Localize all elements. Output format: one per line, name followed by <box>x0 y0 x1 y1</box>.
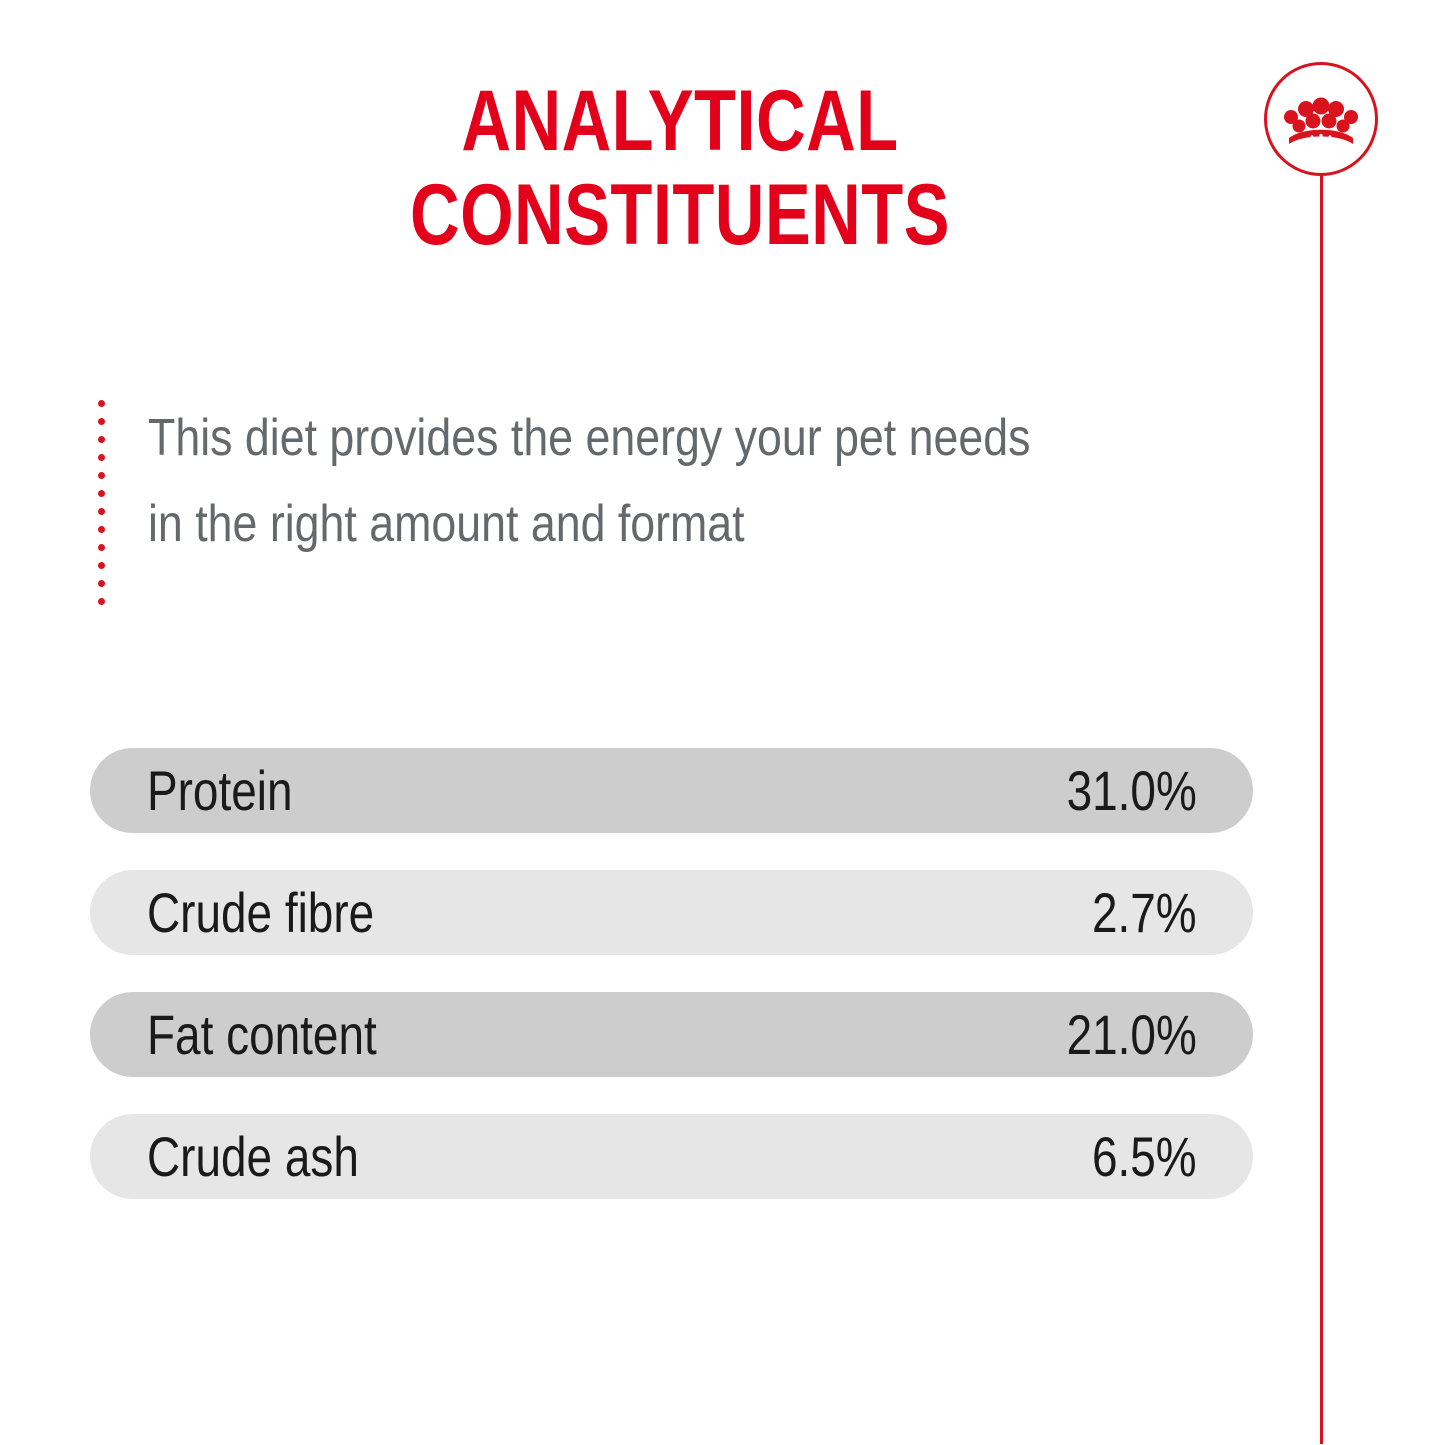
intro-text: This diet provides the energy your pet n… <box>116 395 1174 567</box>
analytical-constituents-panel: svg[data-name="crown-icon"] circle, svg[… <box>0 0 1445 1445</box>
page-title-line-1: ANALYTICAL <box>232 74 1128 168</box>
row-label: Crude ash <box>147 1129 359 1185</box>
brand-mark: svg[data-name="crown-icon"] circle, svg[… <box>1264 62 1386 1382</box>
row-label: Protein <box>147 763 292 819</box>
table-row: Protein 31.0% <box>90 748 1253 833</box>
crown-icon: svg[data-name="crown-icon"] circle, svg[… <box>1283 94 1359 144</box>
intro-block: This diet provides the energy your pet n… <box>90 395 1250 605</box>
row-label: Crude fibre <box>147 885 374 941</box>
row-value: 2.7% <box>1092 885 1197 941</box>
row-value: 21.0% <box>1067 1007 1197 1063</box>
table-row: Crude fibre 2.7% <box>90 870 1253 955</box>
row-value: 31.0% <box>1067 763 1197 819</box>
intro-text-line-1: This diet provides the energy your pet n… <box>148 395 1031 481</box>
row-label: Fat content <box>147 1007 377 1063</box>
brand-circle: svg[data-name="crown-icon"] circle, svg[… <box>1264 62 1378 176</box>
constituents-table: Protein 31.0% Crude fibre 2.7% Fat conte… <box>90 748 1253 1199</box>
page-title-line-2: CONSTITUENTS <box>232 168 1128 262</box>
intro-text-line-2: in the right amount and format <box>148 481 1031 567</box>
brand-stem-line <box>1320 172 1323 1444</box>
dotted-rail-icon <box>90 395 116 605</box>
page-title: ANALYTICAL CONSTITUENTS <box>120 74 1240 262</box>
table-row: Crude ash 6.5% <box>90 1114 1253 1199</box>
row-value: 6.5% <box>1092 1129 1197 1185</box>
table-row: Fat content 21.0% <box>90 992 1253 1077</box>
